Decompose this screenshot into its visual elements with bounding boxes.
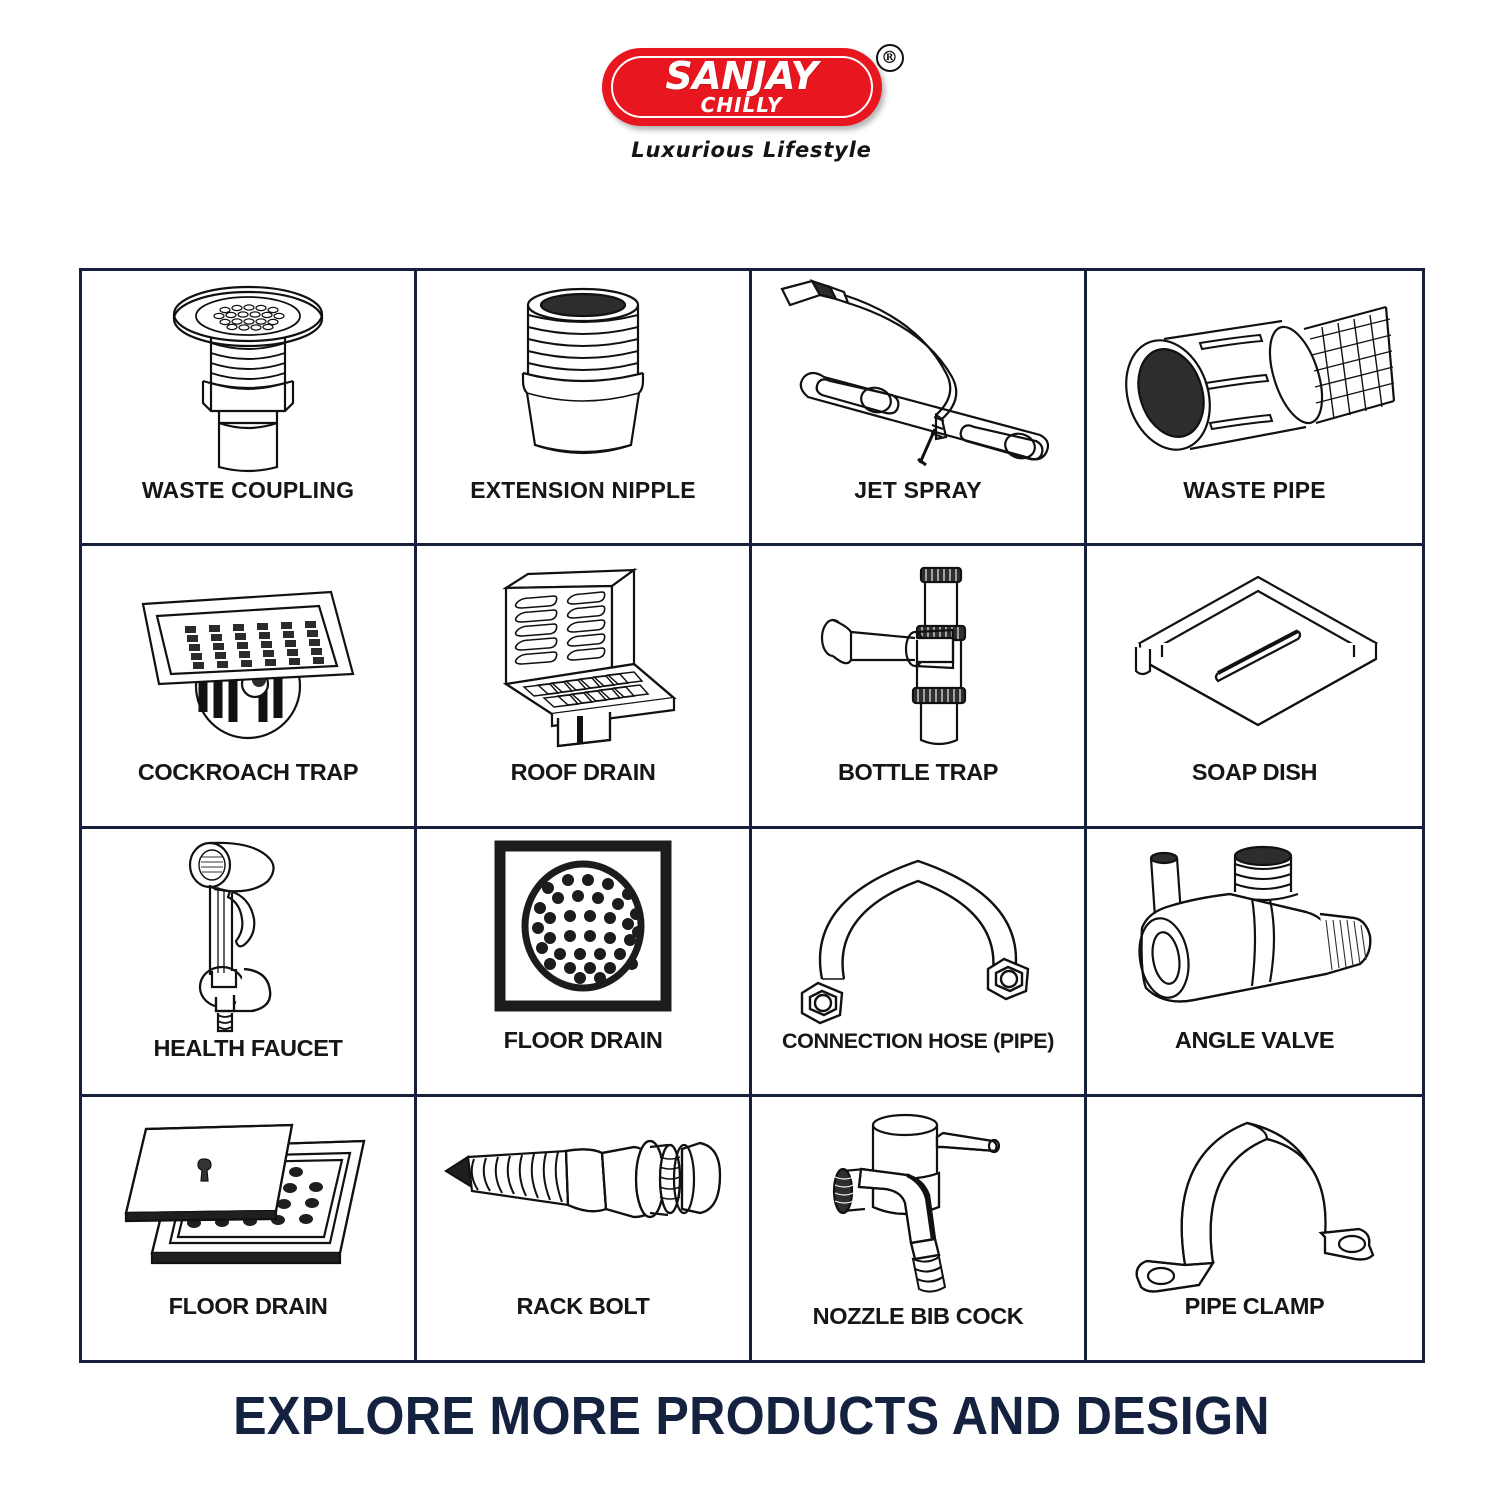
product-label: EXTENSION NIPPLE (417, 477, 749, 544)
product-cell-extension-nipple[interactable]: EXTENSION NIPPLE (417, 271, 752, 546)
product-label: WASTE COUPLING (82, 477, 414, 544)
product-cell-cockroach-trap[interactable]: COCKROACH TRAP (82, 546, 417, 829)
product-cell-health-faucet[interactable]: HEALTH FAUCET (82, 829, 417, 1097)
bottle-trap-icon (752, 546, 1084, 759)
connection-hose-icon (752, 829, 1084, 1029)
waste-coupling-icon (82, 271, 414, 477)
pipe-clamp-icon (1087, 1097, 1422, 1293)
product-label: FLOOR DRAIN (417, 1027, 749, 1094)
product-cell-angle-valve[interactable]: ANGLE VALVE (1087, 829, 1422, 1097)
footer-headline: EXPLORE MORE PRODUCTS AND DESIGN (53, 1385, 1451, 1447)
product-label: BOTTLE TRAP (752, 759, 1084, 826)
roof-drain-icon (417, 546, 749, 759)
health-faucet-icon (82, 829, 414, 1035)
product-cell-floor-drain-square[interactable]: FLOOR DRAIN (82, 1097, 417, 1360)
extension-nipple-icon (417, 271, 749, 477)
logo-sub-text: CHILLY (602, 94, 882, 116)
product-cell-soap-dish[interactable]: SOAP DISH (1087, 546, 1422, 829)
product-label: HEALTH FAUCET (82, 1035, 414, 1097)
product-label: NOZZLE BIB COCK (752, 1303, 1084, 1360)
floor-drain-round-icon (417, 829, 749, 1027)
product-cell-rack-bolt[interactable]: RACK BOLT (417, 1097, 752, 1360)
product-label: WASTE PIPE (1087, 477, 1422, 544)
product-label: SOAP DISH (1087, 759, 1422, 826)
product-cell-nozzle-bib-cock[interactable]: NOZZLE BIB COCK (752, 1097, 1087, 1360)
product-label: PIPE CLAMP (1087, 1293, 1422, 1360)
product-cell-connection-hose[interactable]: CONNECTION HOSE (PIPE) (752, 829, 1087, 1097)
product-cell-floor-drain-round[interactable]: FLOOR DRAIN (417, 829, 752, 1097)
product-cell-bottle-trap[interactable]: BOTTLE TRAP (752, 546, 1087, 829)
product-label: RACK BOLT (417, 1293, 749, 1360)
page-header: SANJAY CHILLY ® Luxurious Lifestyle (0, 0, 1503, 248)
registered-trademark-icon: ® (876, 44, 904, 72)
product-grid: WASTE COUPLING (82, 271, 1422, 1360)
product-label: JET SPRAY (752, 477, 1084, 544)
product-label: ROOF DRAIN (417, 759, 749, 826)
nozzle-bib-cock-icon (752, 1097, 1084, 1303)
product-grid-container: WASTE COUPLING (79, 268, 1425, 1363)
product-cell-jet-spray[interactable]: JET SPRAY (752, 271, 1087, 546)
product-label: COCKROACH TRAP (82, 759, 414, 826)
product-cell-roof-drain[interactable]: ROOF DRAIN (417, 546, 752, 829)
product-label: FLOOR DRAIN (82, 1293, 414, 1360)
rack-bolt-icon (417, 1097, 749, 1293)
jet-spray-icon (752, 271, 1084, 477)
floor-drain-square-icon (82, 1097, 414, 1293)
waste-pipe-icon (1087, 271, 1422, 477)
angle-valve-icon (1087, 829, 1422, 1027)
soap-dish-icon (1087, 546, 1422, 759)
product-label: CONNECTION HOSE (PIPE) (752, 1029, 1084, 1094)
brand-logo: SANJAY CHILLY ® (602, 48, 902, 134)
product-cell-waste-coupling[interactable]: WASTE COUPLING (82, 271, 417, 546)
logo-brand-text: SANJAY (602, 56, 882, 96)
product-cell-pipe-clamp[interactable]: PIPE CLAMP (1087, 1097, 1422, 1360)
brand-tagline: Luxurious Lifestyle (631, 138, 871, 162)
product-cell-waste-pipe[interactable]: WASTE PIPE (1087, 271, 1422, 546)
page-footer: EXPLORE MORE PRODUCTS AND DESIGN (0, 1385, 1503, 1447)
product-label: ANGLE VALVE (1087, 1027, 1422, 1094)
cockroach-trap-icon (82, 546, 414, 759)
